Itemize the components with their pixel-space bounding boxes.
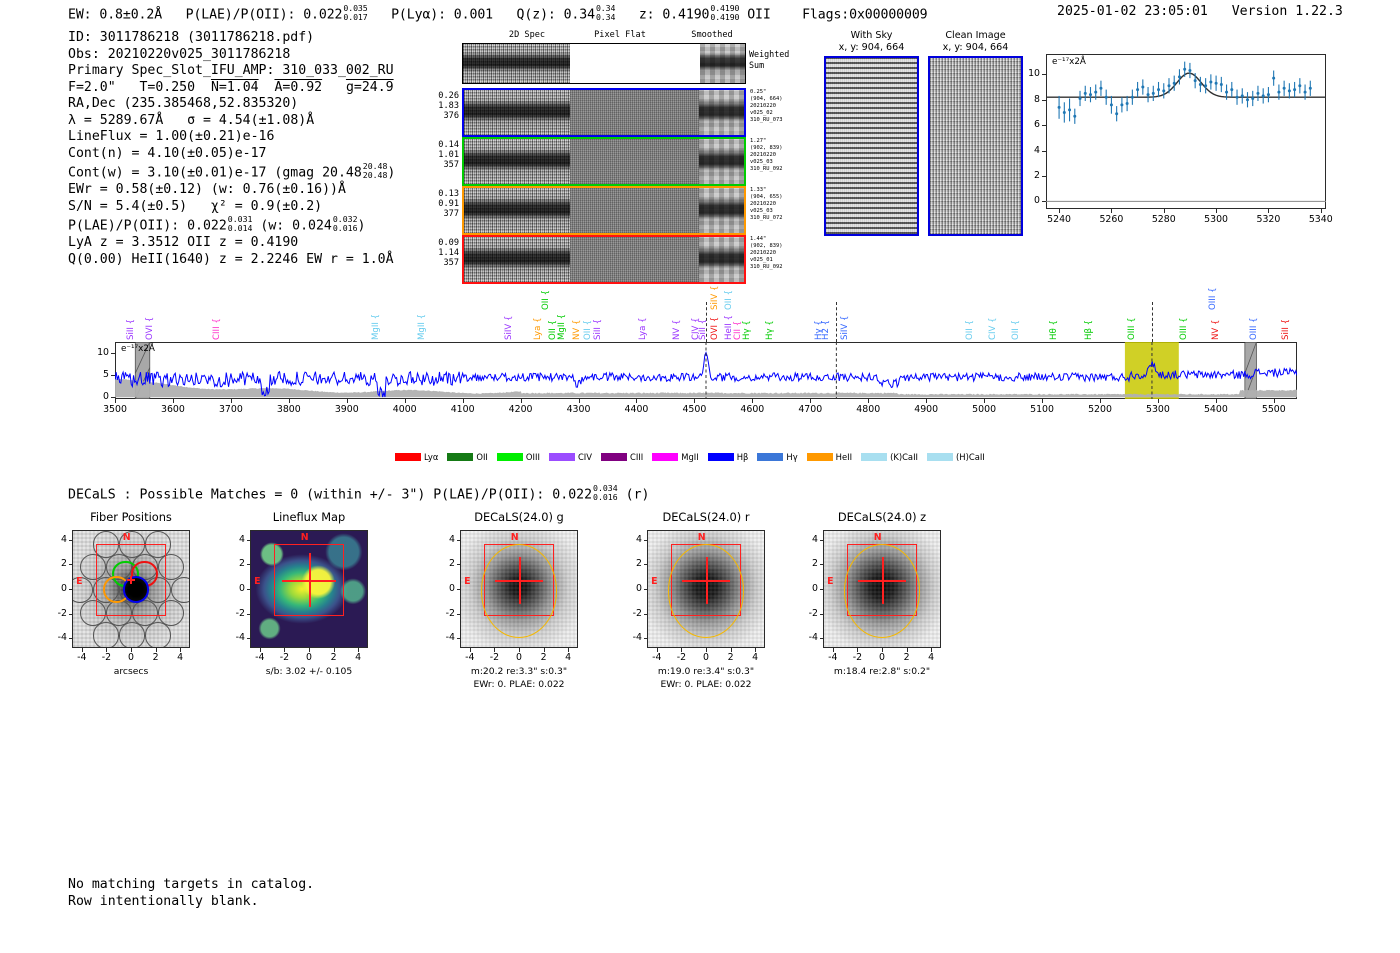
y-tick-label: 6: [1018, 119, 1040, 130]
x-tick: [1059, 209, 1060, 213]
info-q-line: Q(0.00) HeII(1640) z = 2.2246 EW r = 1.0…: [68, 252, 395, 269]
cutout-title: DECaLS(24.0) r: [607, 510, 805, 524]
legend-item: HeII: [807, 452, 852, 462]
with-sky-image: [824, 56, 919, 236]
center-marker-v: [130, 576, 132, 584]
emission-line-label: Hβ {: [1084, 320, 1094, 340]
fiber-row-meta: 0.25"(904, 664)20210220v025_02310_RU_073: [750, 89, 810, 124]
x-tick: [984, 399, 985, 403]
compass-east: E: [464, 576, 470, 587]
cutout-y-tick: [820, 540, 824, 541]
fiber-row-values: 0.130.91377: [425, 189, 459, 220]
legend-swatch: [757, 453, 783, 461]
cutout-x-tick: [309, 648, 310, 652]
with-sky-cutout: With Sky x, y: 904, 664: [824, 30, 919, 236]
cutout-y-tick: [820, 638, 824, 639]
cutout-x-tick: [180, 648, 181, 652]
col-title-smoothed: Smoothed: [667, 30, 757, 40]
info-cont-n: Cont(n) = 4.10(±0.05)e-17: [68, 146, 395, 163]
x-tick-label: 4400: [611, 404, 661, 415]
info-id: ID: 3011786218 (3011786218.pdf): [68, 30, 395, 47]
line-zoom-data: [1046, 54, 1326, 209]
fiber-row-values: 0.261.83376: [425, 91, 459, 122]
col-title-pixelflat: Pixel Flat: [575, 30, 665, 40]
legend-item: Hβ: [708, 452, 749, 462]
emission-line-label: Hθ {: [1049, 320, 1059, 340]
cutout-title: DECaLS(24.0) z: [783, 510, 981, 524]
x-tick-label: 5340: [1301, 214, 1341, 225]
cutout-x-tick: [156, 648, 157, 652]
cutout-x-tick: [931, 648, 932, 652]
legend-item: OIII: [497, 452, 540, 462]
info-lambda-sigma: λ = 5289.67Å σ = 4.54(±1.08)Å: [68, 113, 395, 130]
cutout-y-tick: [69, 589, 73, 590]
cutout-y-tick-label: 2: [224, 558, 245, 569]
cutout-x-tick: [731, 648, 732, 652]
x-tick: [1042, 399, 1043, 403]
cutout-y-tick-label: 4: [224, 534, 245, 545]
x-tick: [1100, 399, 1101, 403]
emission-line-label: OIII {: [1249, 317, 1259, 340]
x-tick: [115, 399, 116, 403]
x-tick-label: 5500: [1249, 404, 1299, 415]
cutout-x-tick-label: 4: [553, 652, 583, 663]
emission-line-label: CIV {: [988, 317, 998, 340]
compass-north: N: [698, 532, 706, 543]
cutout-caption: m:18.4 re:2.8" s:0.2": [778, 666, 986, 677]
line-marker: [836, 302, 837, 342]
with-sky-title: With Sky: [824, 30, 919, 42]
emission-line-label: SiII {: [1281, 319, 1291, 340]
x-tick: [926, 399, 927, 403]
legend-item: (H)CaII: [927, 452, 985, 462]
x-tick-label: 4300: [554, 404, 604, 415]
fiber-row: [462, 186, 746, 235]
line-marker: [1152, 302, 1153, 342]
info-sigma: σ = 4.54(±1.08)Å: [187, 113, 314, 128]
cutout-y-tick: [247, 564, 251, 565]
y-tick-label: 0: [1018, 195, 1040, 206]
emission-line-label: OIII {: [1208, 287, 1218, 310]
cutout-y-tick-label: 4: [797, 534, 818, 545]
info-seeing-n: N=1.04: [211, 80, 259, 95]
cutout-y-tick-label: 2: [621, 558, 642, 569]
legend-label: (K)CaII: [890, 452, 918, 462]
info-snr-chi2: S/N = 5.4(±0.5) χ² = 0.9(±0.2): [68, 199, 395, 216]
legend-swatch: [549, 453, 575, 461]
cutout-x-tick: [706, 648, 707, 652]
compass-east: E: [651, 576, 657, 587]
header-qz-range: 0.340.34: [596, 4, 615, 21]
fiber-smoothed-image: [699, 139, 744, 184]
cutout-y-tick: [820, 614, 824, 615]
cutout-x-tick: [833, 648, 834, 652]
x-tick: [521, 399, 522, 403]
cutout-y-tick: [457, 589, 461, 590]
emission-line-label: OII {: [1011, 320, 1021, 340]
weighted-pixelflat-image: [570, 44, 700, 83]
weighted-2dspec-image: [463, 44, 570, 83]
cutout-x-tick: [681, 648, 682, 652]
x-tick-label: 4900: [901, 404, 951, 415]
cutout-title: Lineflux Map: [210, 510, 408, 524]
y-tick-label: 8: [1018, 94, 1040, 105]
x-tick-label: 5260: [1091, 214, 1131, 225]
x-tick: [868, 399, 869, 403]
info-seeing-g: g=24.9: [346, 80, 394, 95]
legend-label: Hβ: [737, 452, 749, 462]
x-tick: [1268, 209, 1269, 213]
header-z-type: OII: [747, 7, 771, 22]
cutout-x-tick: [106, 648, 107, 652]
info-seeing: F=2.0" T=0.250 N=1.04 A=0.92 g=24.9: [68, 80, 395, 97]
legend-swatch: [861, 453, 887, 461]
cutout-y-tick-label: 0: [46, 583, 67, 594]
cutout-y-tick: [457, 540, 461, 541]
info-snr: S/N = 5.4(±0.5): [68, 199, 187, 214]
cutout-y-tick-label: -4: [621, 632, 642, 643]
x-tick: [1274, 399, 1275, 403]
y-tick-label: 2: [1018, 170, 1040, 181]
compass-north: N: [874, 532, 882, 543]
info-plae: P(LAE)/P(OII): 0.0220.0310.014 (w: 0.024…: [68, 215, 395, 235]
cutout-y-tick: [644, 540, 648, 541]
legend-item: CIV: [549, 452, 592, 462]
compass-north: N: [511, 532, 519, 543]
y-tick-label: 0: [85, 391, 109, 402]
emission-line-label: Hγ {: [765, 320, 775, 340]
cutout-y-tick: [644, 589, 648, 590]
detection-info-block: ID: 3011786218 (3011786218.pdf) Obs: 202…: [68, 30, 395, 268]
cutout-x-tick: [755, 648, 756, 652]
fiber-2dspec-image: [464, 139, 570, 184]
cutout-x-tick: [82, 648, 83, 652]
emission-line-label: Lya {: [638, 317, 648, 340]
legend-swatch: [927, 453, 953, 461]
cutout-x-tick: [907, 648, 908, 652]
compass-east: E: [827, 576, 833, 587]
x-tick-label: 5200: [1075, 404, 1125, 415]
summary-header: EW: 0.8±0.2Å P(LAE)/P(OII): 0.0220.0350.…: [68, 4, 928, 22]
info-seeing-f: F=2.0": [68, 80, 116, 95]
header-meta: 2025-01-02 23:05:01 Version 1.22.3: [1057, 4, 1343, 19]
cutout-y-tick-label: 4: [621, 534, 642, 545]
cutout-x-tick: [494, 648, 495, 652]
footer-line-1: No matching targets in catalog.: [68, 876, 314, 893]
cutout-x-tick: [334, 648, 335, 652]
cutout-y-tick: [820, 589, 824, 590]
emission-line-label: SiIV {: [504, 316, 514, 340]
header-version: Version 1.22.3: [1232, 4, 1343, 19]
legend-item: Lyα: [395, 452, 438, 462]
emission-line-label: OIII {: [1127, 317, 1137, 340]
cutout-y-tick-label: 2: [797, 558, 818, 569]
y-tick: [1042, 125, 1046, 126]
header-timestamp: 2025-01-02 23:05:01: [1057, 4, 1208, 19]
emission-line-label: SiIV {: [710, 286, 720, 310]
x-tick: [463, 399, 464, 403]
emission-line-label: MgII {: [557, 314, 567, 340]
fiber-row: [462, 88, 746, 137]
emission-line-label: OII {: [965, 320, 975, 340]
x-tick-label: 3500: [90, 404, 140, 415]
info-cont-w-range: 20.4820.48: [363, 162, 388, 179]
cutout-y-tick: [247, 638, 251, 639]
cutout-y-tick-label: -2: [434, 608, 455, 619]
legend-item: CIII: [601, 452, 643, 462]
fiber-pixelflat-image: [570, 90, 699, 135]
x-tick-label: 3600: [148, 404, 198, 415]
cutout-y-tick: [457, 614, 461, 615]
emission-line-label: OVI {: [710, 317, 720, 340]
legend-label: OIII: [526, 452, 540, 462]
x-tick-label: 3700: [206, 404, 256, 415]
cutout-x-tick-label: 4: [343, 652, 373, 663]
cutout-y-tick: [820, 564, 824, 565]
legend-swatch: [447, 453, 473, 461]
emission-line-label: OII {: [724, 290, 734, 310]
cutout-caption: s/b: 3.02 +/- 0.105: [205, 666, 413, 677]
weighted-sum-row: [462, 43, 746, 84]
legend-item: Hγ: [757, 452, 797, 462]
cutout-y-tick-label: -2: [46, 608, 67, 619]
cutout-x-tick: [260, 648, 261, 652]
fiber-pixelflat-image: [570, 188, 699, 233]
emission-line-label: MgII {: [371, 314, 381, 340]
fiber-2dspec-image: [464, 188, 570, 233]
footer-note: No matching targets in catalog. Row inte…: [68, 876, 314, 910]
emission-line-label: MgII {: [417, 314, 427, 340]
full-spectrum-data: [115, 342, 1297, 399]
x-tick: [810, 399, 811, 403]
x-tick-label: 5100: [1017, 404, 1067, 415]
emission-line-label: SiII {: [126, 319, 136, 340]
cutout-x-tick: [131, 648, 132, 652]
decals-header: DECaLS : Possible Matches = 0 (within +/…: [68, 484, 649, 502]
info-ewr: EWr = 0.58(±0.12) (w: 0.76(±0.16))Å: [68, 182, 395, 199]
emission-line-label: NV {: [672, 319, 682, 340]
cutout-y-tick: [644, 638, 648, 639]
info-plae-w-range: 0.0320.016: [333, 215, 358, 232]
info-primary-spec: Primary Spec_Slot_IFU_AMP: 310_033_002_R…: [68, 63, 395, 80]
clean-image-cutout: Clean Image x, y: 904, 664: [928, 30, 1023, 236]
emission-line-label: NV {: [1211, 319, 1221, 340]
header-plae-poii-range: 0.0350.017: [343, 4, 367, 21]
cutout-caption-secondary: EWr: 0. PLAE: 0.022: [602, 679, 810, 690]
y-tick-label: 5: [85, 369, 109, 380]
x-tick: [1216, 399, 1217, 403]
cutout-y-tick-label: 4: [434, 534, 455, 545]
clean-image-title: Clean Image: [928, 30, 1023, 42]
x-tick: [231, 399, 232, 403]
cutout-x-tick-label: 4: [165, 652, 195, 663]
legend-swatch: [601, 453, 627, 461]
cutout-x-tick: [568, 648, 569, 652]
line-marker: [706, 302, 707, 342]
cutout-title: Fiber Positions: [32, 510, 230, 524]
x-tick: [636, 399, 637, 403]
legend-label: HeII: [836, 452, 852, 462]
cutout-x-tick: [470, 648, 471, 652]
weighted-sum-label: Weighted Sum: [749, 49, 789, 70]
info-redshifts: LyA z = 3.3512 OII z = 0.4190: [68, 235, 395, 252]
x-tick: [1321, 209, 1322, 213]
cutout-y-tick-label: -4: [434, 632, 455, 643]
cutout-x-tick: [657, 648, 658, 652]
fiber-pixelflat-image: [570, 139, 699, 184]
emission-line-legend: LyαOIIOIIICIVCIIIMgIIHβHγHeII(K)CaII(H)C…: [395, 452, 985, 462]
clean-image-coords: x, y: 904, 664: [928, 42, 1023, 54]
emission-line-label: HeII {: [724, 315, 734, 340]
header-flags: Flags:0x00000009: [802, 7, 927, 22]
emission-line-label: Hγ {: [742, 320, 752, 340]
cutout-y-tick: [69, 564, 73, 565]
cutout-y-tick-label: 0: [797, 583, 818, 594]
cutout-y-tick: [644, 614, 648, 615]
cutout-y-tick: [247, 540, 251, 541]
weighted-smoothed-image: [700, 44, 745, 83]
info-seeing-t: T=0.250: [139, 80, 195, 95]
emission-line-label: OVI {: [145, 317, 155, 340]
cutout-y-tick-label: 0: [434, 583, 455, 594]
x-tick: [405, 399, 406, 403]
x-tick-label: 4000: [380, 404, 430, 415]
legend-swatch: [807, 453, 833, 461]
footer-line-2: Row intentionally blank.: [68, 893, 314, 910]
cutout-y-tick-label: -4: [224, 632, 245, 643]
cutout-y-tick-label: 2: [434, 558, 455, 569]
cutout-y-tick: [69, 614, 73, 615]
y-tick-label: 10: [1018, 68, 1040, 79]
fiber-row-meta: 1.27"(902, 839)20210220v025_03310_RU_092: [750, 138, 810, 173]
header-z-range: 0.41900.4190: [710, 4, 739, 21]
y-tick: [1042, 74, 1046, 75]
info-plae-range: 0.0310.014: [228, 215, 253, 232]
cutout-title: DECaLS(24.0) g: [420, 510, 618, 524]
legend-label: (H)CaII: [956, 452, 985, 462]
cutout-y-tick-label: -2: [797, 608, 818, 619]
legend-label: MgII: [681, 452, 698, 462]
cutout-y-tick: [457, 564, 461, 565]
emission-line-label: SiII {: [593, 319, 603, 340]
legend-swatch: [652, 453, 678, 461]
x-tick: [1164, 209, 1165, 213]
emission-line-label: NV {: [572, 319, 582, 340]
legend-swatch: [395, 453, 421, 461]
full-spectrum-plot: SiII {OVI {CIII {MgII {MgII {SiIV {Lya {…: [95, 270, 1310, 470]
cutout-x-tick-label: 4: [916, 652, 946, 663]
cutout-x-tick: [857, 648, 858, 652]
info-lineflux: LineFlux = 1.00(±0.21)e-16: [68, 129, 395, 146]
y-tick: [1042, 176, 1046, 177]
y-tick-label: 4: [1018, 145, 1040, 156]
x-tick: [173, 399, 174, 403]
compass-east: E: [76, 576, 82, 587]
cutout-y-tick: [457, 638, 461, 639]
cutout-caption-secondary: EWr: 0. PLAE: 0.022: [415, 679, 623, 690]
y-tick-label: 10: [85, 347, 109, 358]
compass-north: N: [301, 532, 309, 543]
x-tick-label: 3900: [322, 404, 372, 415]
x-tick: [694, 399, 695, 403]
x-tick-label: 5000: [959, 404, 1009, 415]
y-tick: [1042, 100, 1046, 101]
cutout-y-tick-label: -4: [797, 632, 818, 643]
cutout-caption: arcsecs: [27, 666, 235, 677]
cutout-x-tick-label: 4: [740, 652, 770, 663]
legend-item: (K)CaII: [861, 452, 918, 462]
compass-east: E: [254, 576, 260, 587]
legend-label: Lyα: [424, 452, 438, 462]
cutout-y-tick: [247, 614, 251, 615]
cutout-x-tick: [358, 648, 359, 652]
header-qz: Q(z): 0.34: [517, 7, 595, 22]
x-tick-label: 5240: [1039, 214, 1079, 225]
x-tick: [1111, 209, 1112, 213]
x-tick-label: 5300: [1133, 404, 1183, 415]
x-tick-label: 4700: [785, 404, 835, 415]
x-tick-label: 5280: [1144, 214, 1184, 225]
fiber-smoothed-image: [699, 188, 744, 233]
header-z: z: 0.4190: [639, 7, 710, 22]
legend-swatch: [497, 453, 523, 461]
emission-line-label: SiIV {: [840, 316, 850, 340]
x-tick-label: 5400: [1191, 404, 1241, 415]
fiber-row: [462, 137, 746, 186]
info-obs: Obs: 20210220v025_3011786218: [68, 47, 395, 64]
emission-line-label: CIII {: [212, 318, 222, 340]
x-tick: [752, 399, 753, 403]
legend-label: OII: [476, 452, 488, 462]
x-tick-label: 5320: [1248, 214, 1288, 225]
info-chi2: χ² = 0.9(±0.2): [211, 199, 322, 214]
info-seeing-a: A=0.92: [274, 80, 322, 95]
legend-label: CIII: [630, 452, 643, 462]
x-tick: [347, 399, 348, 403]
fiber-row-values: 0.141.01357: [425, 140, 459, 171]
x-tick-label: 3800: [264, 404, 314, 415]
two-d-spectra-panel: 2D Spec Pixel Flat Smoothed Weighted Sum…: [425, 30, 785, 260]
emission-line-label: OII {: [583, 320, 593, 340]
x-tick-label: 4600: [727, 404, 777, 415]
cutout-x-tick: [544, 648, 545, 652]
cutout-y-tick-label: -2: [224, 608, 245, 619]
x-tick: [579, 399, 580, 403]
cutout-x-tick: [882, 648, 883, 652]
cutout-y-tick: [247, 589, 251, 590]
info-lambda: λ = 5289.67Å: [68, 113, 163, 128]
emission-line-label: OII {: [541, 290, 551, 310]
cutout-y-tick-label: 4: [46, 534, 67, 545]
x-tick-label: 5300: [1196, 214, 1236, 225]
emission-line-label: Lya {: [533, 317, 543, 340]
x-tick: [1216, 209, 1217, 213]
fiber-row-meta: 1.44"(902, 839)20210220v025_01310_RU_092: [750, 236, 810, 271]
header-plya: P(Lyα): 0.001: [391, 7, 493, 22]
x-tick: [1158, 399, 1159, 403]
legend-item: OII: [447, 452, 488, 462]
col-title-2dspec: 2D Spec: [482, 30, 572, 40]
info-cont-w: Cont(w) = 3.10(±0.01)e-17 (gmag 20.4820.…: [68, 162, 395, 182]
line-zoom-plot: e⁻¹⁷x2Å 5240526052805300532053400246810: [1036, 52, 1336, 247]
clean-image-image: [928, 56, 1023, 236]
x-tick-label: 4100: [438, 404, 488, 415]
legend-item: MgII: [652, 452, 698, 462]
x-tick-label: 4500: [669, 404, 719, 415]
header-ew: EW: 0.8±0.2Å: [68, 7, 162, 22]
compass-north: N: [123, 532, 131, 543]
cutout-caption: m:20.2 re:3.3" s:0.3": [415, 666, 623, 677]
